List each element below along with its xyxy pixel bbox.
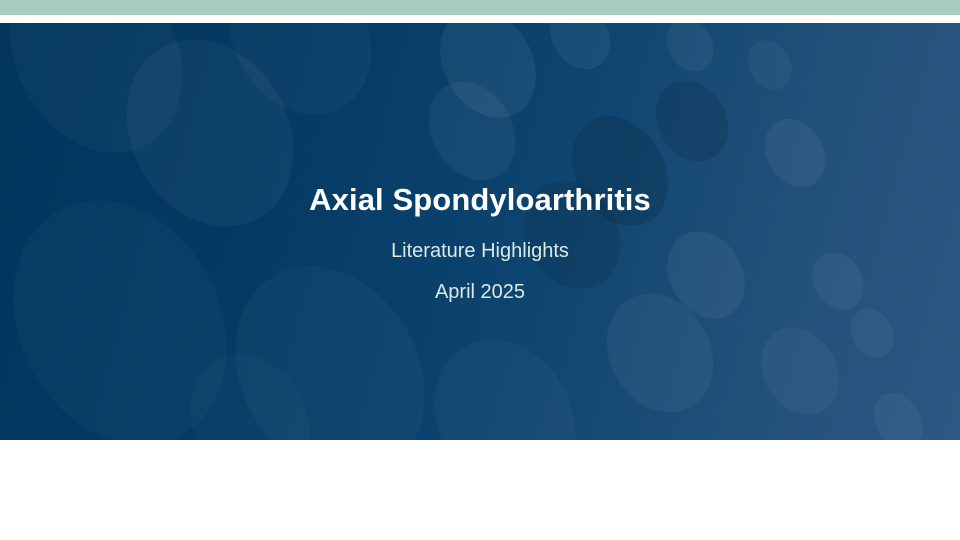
hero-banner: Axial Spondyloarthritis Literature Highl… xyxy=(0,23,960,440)
page-title: Axial Spondyloarthritis xyxy=(309,183,651,217)
subtitle: Literature Highlights xyxy=(391,217,569,263)
presentation-slide: Axial Spondyloarthritis Literature Highl… xyxy=(0,0,960,540)
footer-bar: University ofGlasgow Immune-Mediated Inf… xyxy=(0,440,960,540)
top-accent-strip xyxy=(0,0,960,15)
date-label: April 2025 xyxy=(435,263,525,304)
title-block: Axial Spondyloarthritis Literature Highl… xyxy=(0,23,960,440)
